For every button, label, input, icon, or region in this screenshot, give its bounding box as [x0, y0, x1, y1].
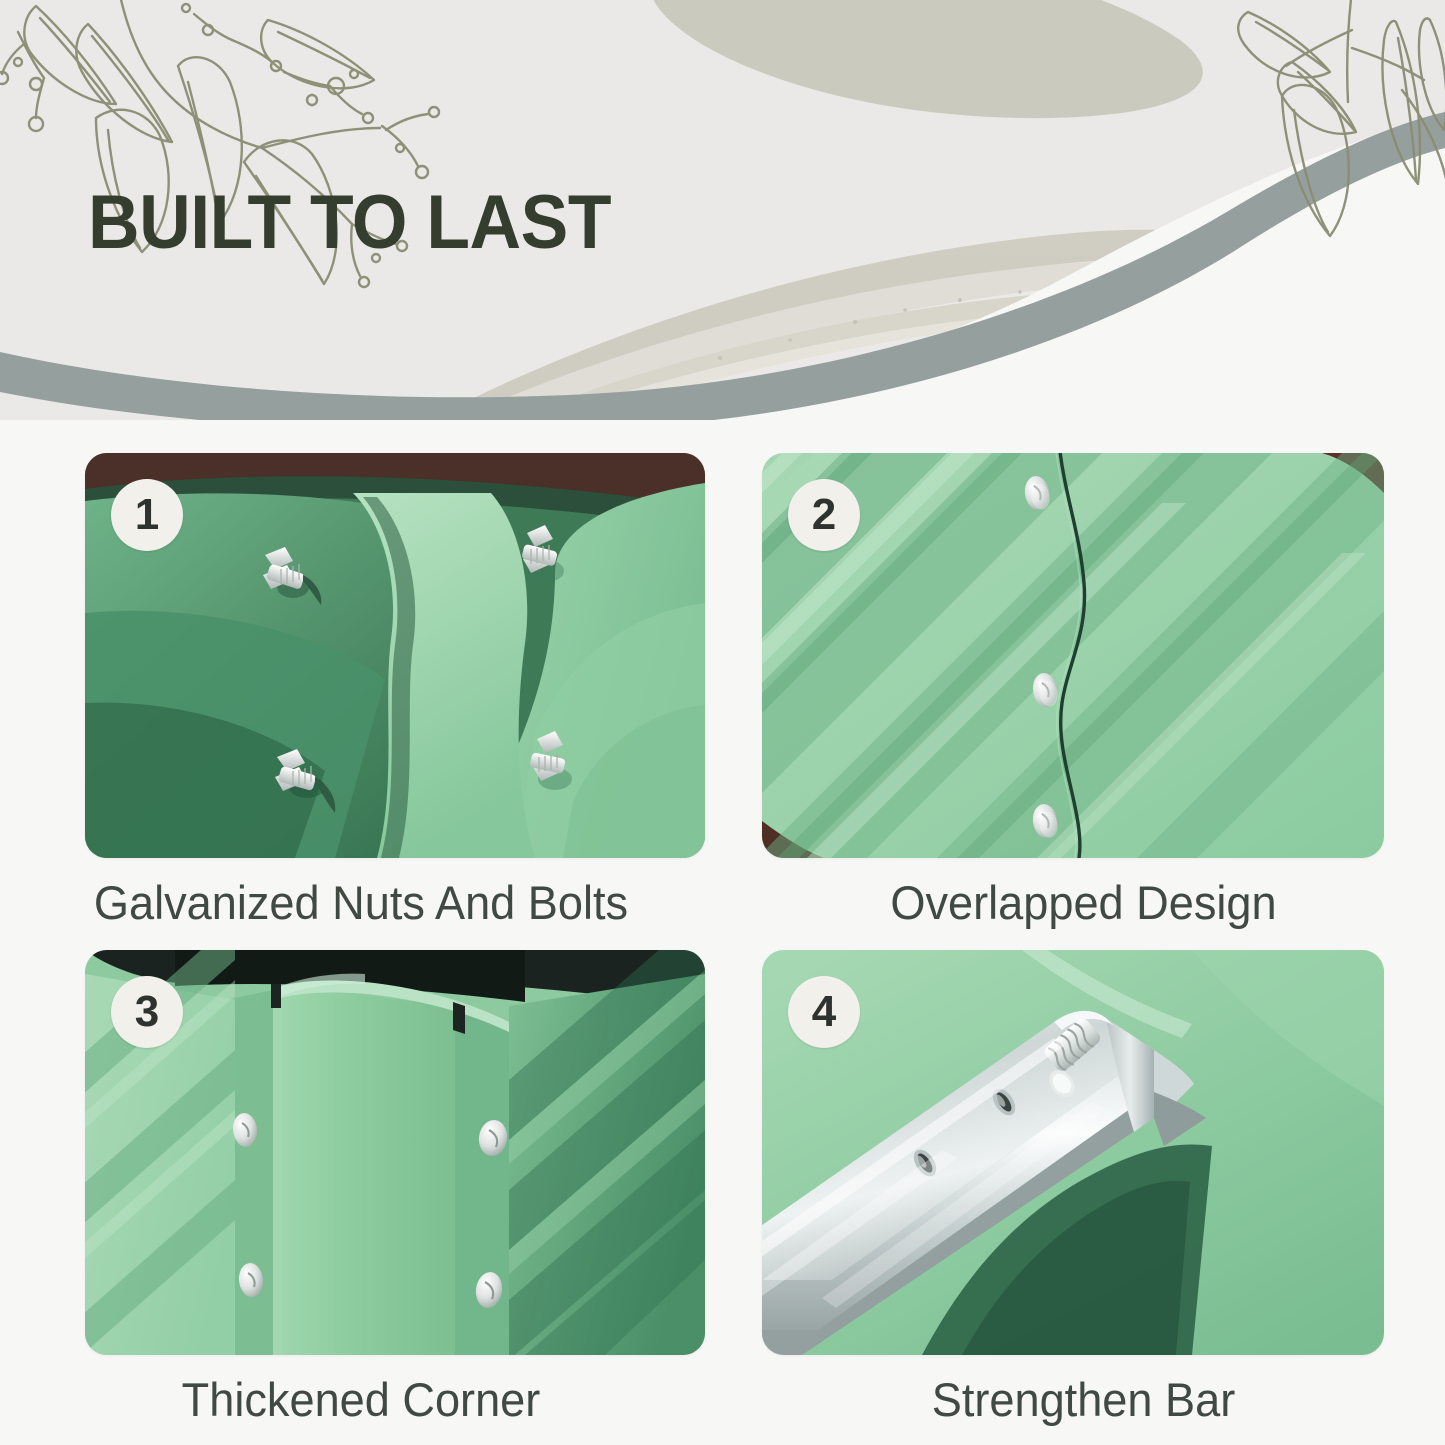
overlapped-design-photo[interactable]: 2 [762, 453, 1384, 858]
feature-caption-1: Galvanized Nuts And Bolts [14, 875, 707, 930]
galvanized-nuts-and-bolts-photo[interactable]: 1 [85, 453, 705, 858]
feature-badge-1: 1 [111, 479, 183, 551]
feature-grid: 1 Galvanized Nuts And Bolts [0, 420, 1445, 1445]
feature-cell-3: 3 Thickened Corner [0, 932, 722, 1445]
header-banner: BUILT TO LAST [0, 0, 1445, 420]
feature-cell-2: 2 Overlapped Design [722, 420, 1445, 932]
thickened-corner-photo[interactable]: 3 [85, 950, 705, 1355]
feature-cell-4: 4 Strengthen Bar [722, 932, 1445, 1445]
feature-badge-4: 4 [788, 976, 860, 1048]
feature-badge-3: 3 [111, 976, 183, 1048]
feature-cell-1: 1 Galvanized Nuts And Bolts [0, 420, 722, 932]
feature-caption-3: Thickened Corner [14, 1372, 707, 1427]
feature-caption-4: Strengthen Bar [736, 1372, 1430, 1427]
page-title: BUILT TO LAST [88, 179, 611, 266]
feature-caption-2: Overlapped Design [736, 875, 1430, 930]
feature-badge-2: 2 [788, 479, 860, 551]
strengthen-bar-photo[interactable]: 4 [762, 950, 1384, 1355]
